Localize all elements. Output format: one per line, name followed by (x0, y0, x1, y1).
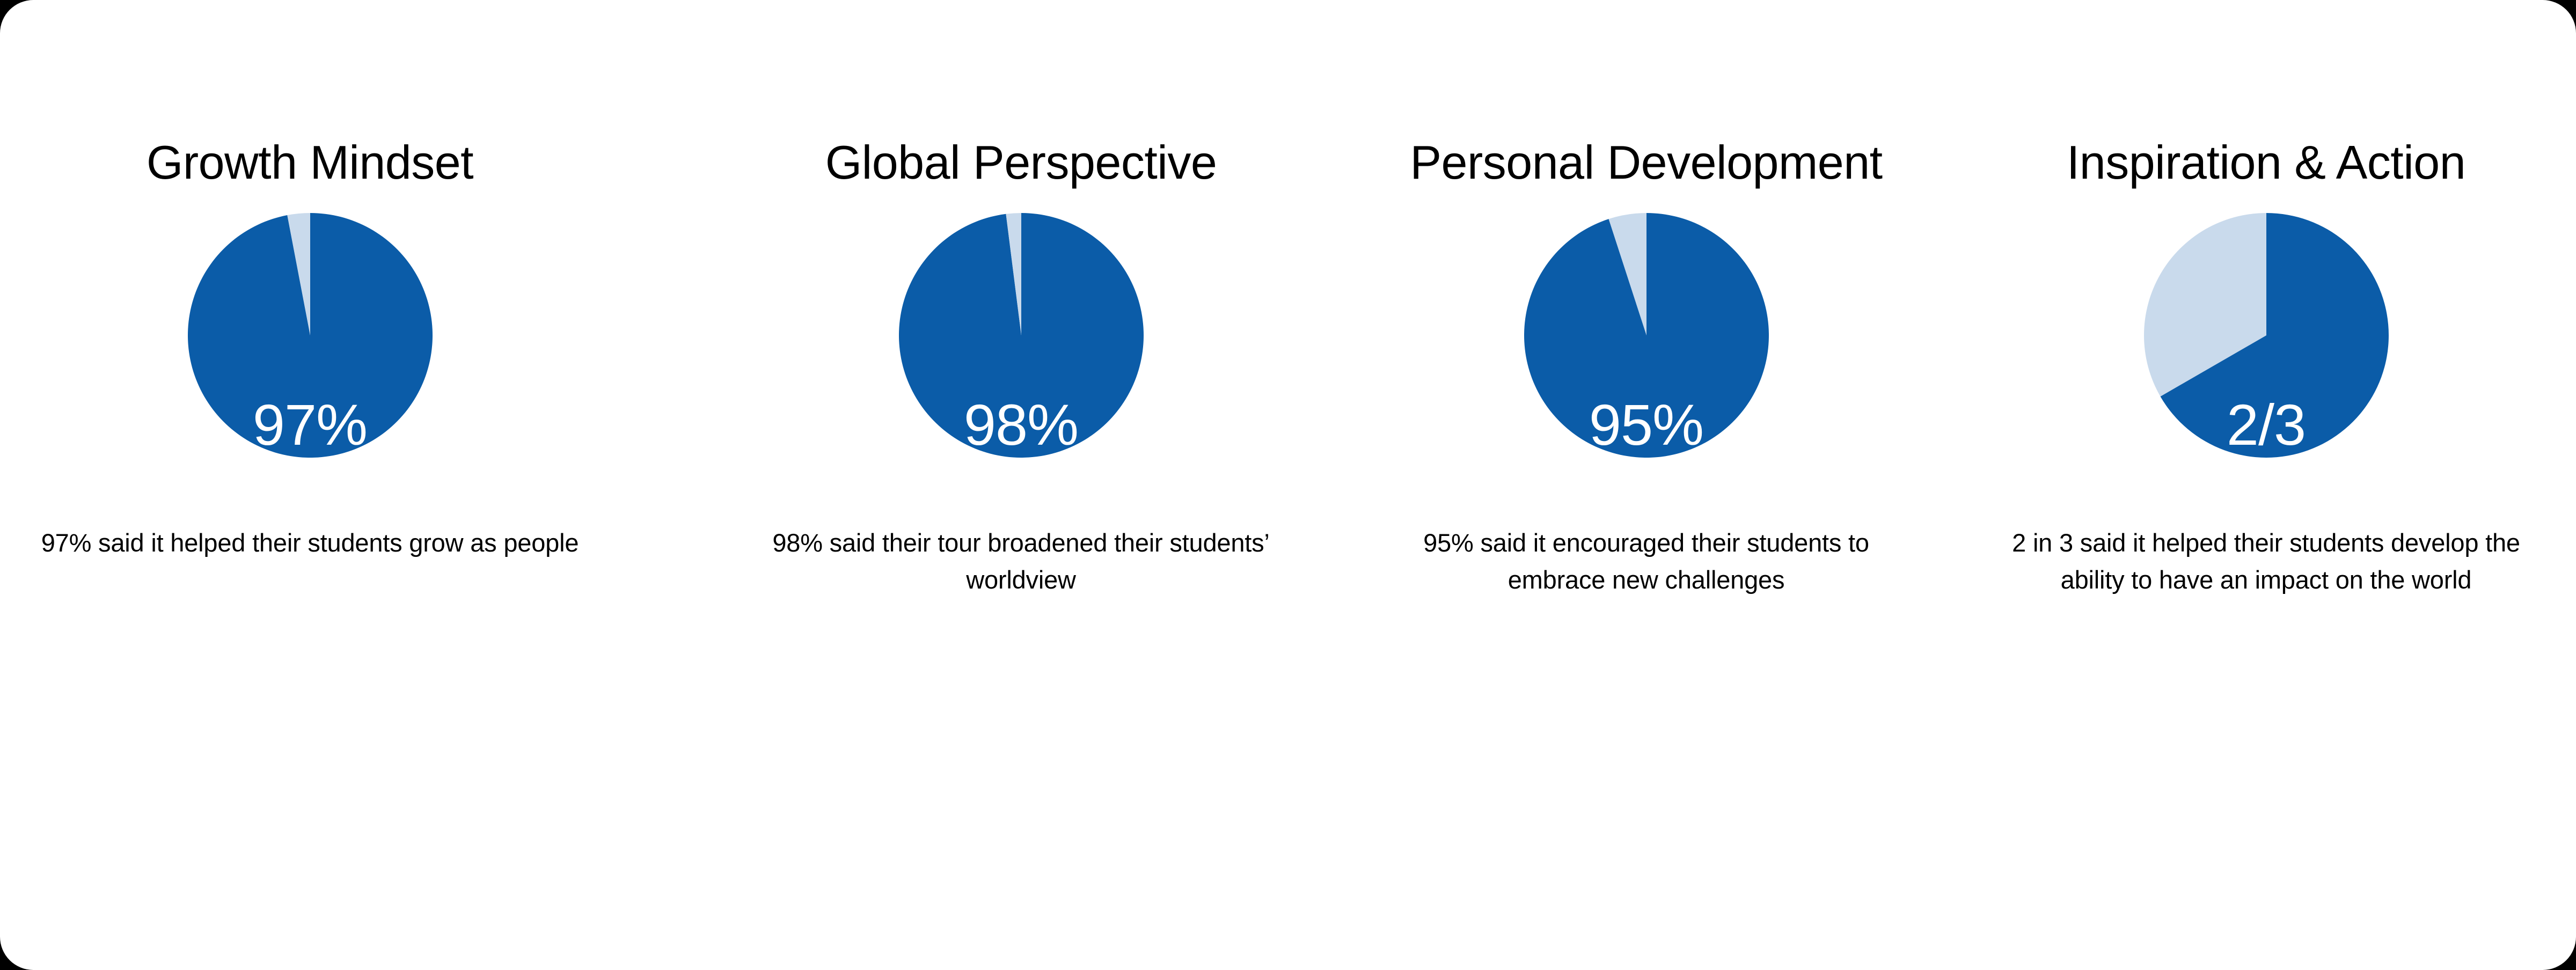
pie-slices (899, 213, 1144, 458)
pie-chart-global-perspective: 98% (899, 213, 1144, 458)
pie-svg (899, 213, 1144, 458)
pie-chart-growth-mindset: 97% (188, 213, 433, 458)
pie-svg (2144, 213, 2389, 458)
pie-slices (2144, 213, 2389, 458)
stat-panel-growth-mindset: Growth Mindset 97% 97% said it helped th… (0, 0, 620, 970)
panel-title: Personal Development (1410, 137, 1882, 188)
infographic-card: Growth Mindset 97% 97% said it helped th… (0, 0, 2576, 970)
panel-caption: 97% said it helped their students grow a… (39, 524, 581, 561)
panel-title: Inspiration & Action (2067, 137, 2465, 188)
panel-caption: 98% said their tour broadened their stud… (740, 524, 1303, 598)
pie-chart-personal-development: 95% (1524, 213, 1769, 458)
stat-panel-global-perspective: Global Perspective 98% 98% said their to… (711, 0, 1331, 970)
panel-caption: 2 in 3 said it helped their students dev… (1998, 524, 2535, 598)
pie-slices (188, 213, 433, 458)
stat-panel-personal-development: Personal Development 95% 95% said it enc… (1336, 0, 1956, 970)
pie-svg (188, 213, 433, 458)
pie-slices (1524, 213, 1769, 458)
pie-chart-inspiration-action: 2/3 (2144, 213, 2389, 458)
stat-panel-inspiration-action: Inspiration & Action 2/3 2 in 3 said it … (1956, 0, 2576, 970)
pie-svg (1524, 213, 1769, 458)
panel-title: Growth Mindset (147, 137, 473, 188)
panel-title: Global Perspective (825, 137, 1217, 188)
pie-chart-grid: Growth Mindset 97% 97% said it helped th… (0, 0, 2576, 970)
panel-caption: 95% said it encouraged their students to… (1410, 524, 1883, 598)
